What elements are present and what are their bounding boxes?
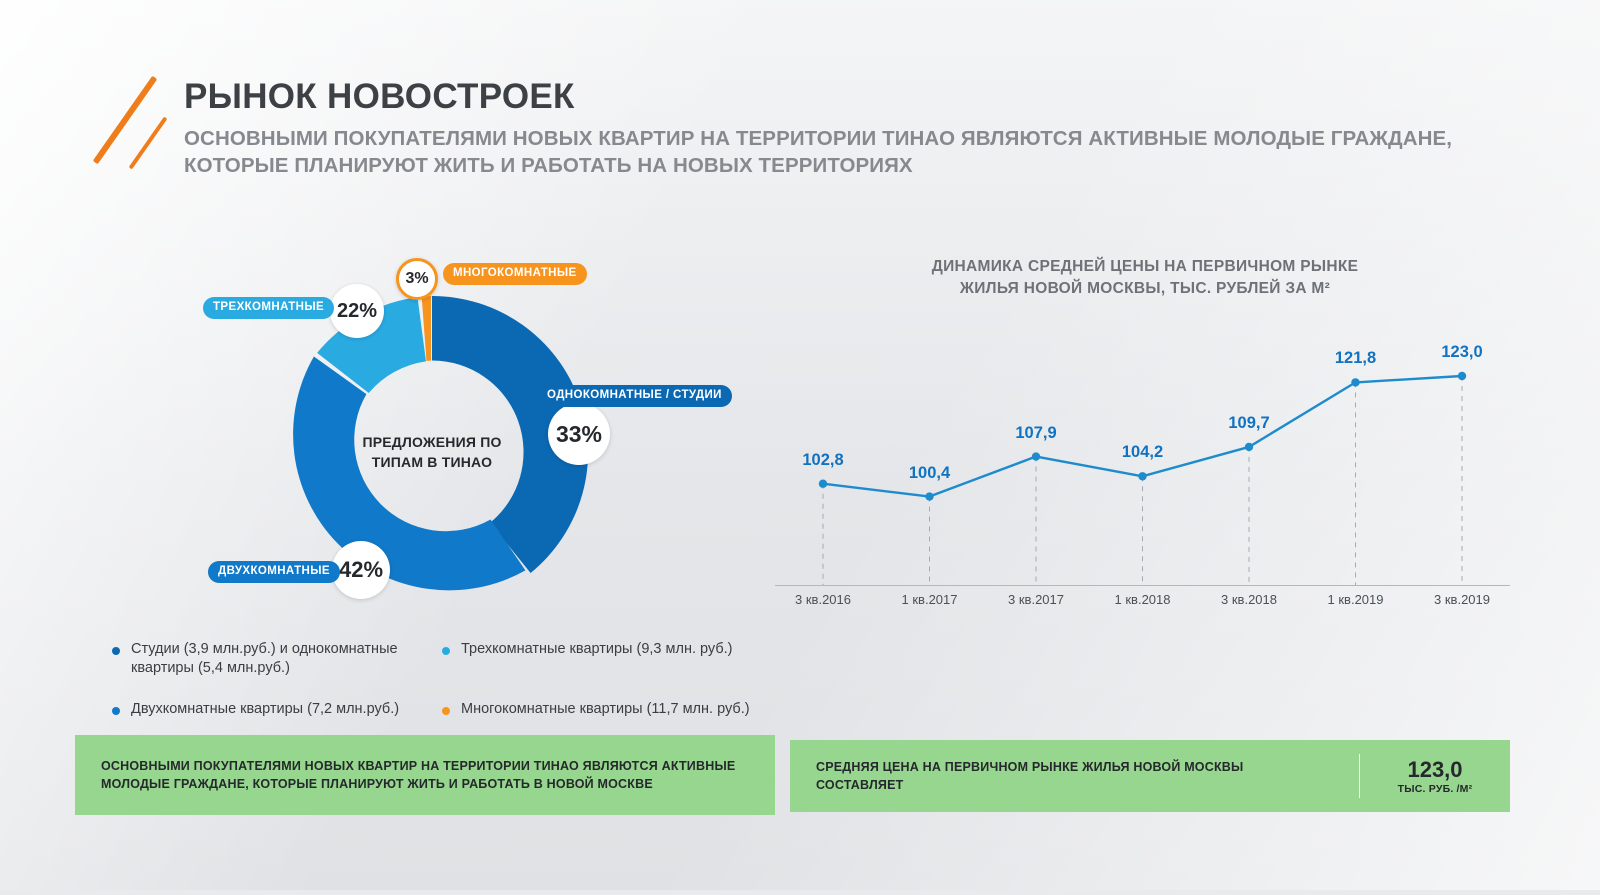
line-chart-axis [775, 585, 1510, 586]
legend-label: Многокомнатные квартиры (11,7 млн. руб.) [461, 700, 750, 719]
line-chart-x-label: 3 кв.2019 [1434, 592, 1490, 607]
callout-price-unit: ТЫС. РУБ. /М² [1360, 783, 1510, 795]
legend-item: Трехкомнатные квартиры (9,3 млн. руб.) [442, 640, 772, 678]
donut-slice-two-room[interactable] [293, 357, 525, 591]
line-chart-value-label: 121,8 [1335, 349, 1376, 368]
donut-legend: Студии (3,9 млн.руб.) и однокомнатные кв… [112, 640, 772, 741]
line-chart-title: ДИНАМИКА СРЕДНЕЙ ЦЕНЫ НА ПЕРВИЧНОМ РЫНКЕ… [905, 256, 1385, 300]
callout-buyers: ОСНОВНЫМИ ПОКУПАТЕЛЯМИ НОВЫХ КВАРТИР НА … [75, 735, 775, 815]
line-chart-value-label: 104,2 [1122, 443, 1163, 462]
line-chart-value-label: 107,9 [1015, 424, 1056, 443]
donut-label-one-room: ОДНОКОМНАТНЫЕ / СТУДИИ [537, 385, 732, 407]
line-chart-x-label: 1 кв.2019 [1328, 592, 1384, 607]
donut-percent-three-room: 22% [330, 284, 384, 338]
legend-label: Трехкомнатные квартиры (9,3 млн. руб.) [461, 640, 733, 659]
donut-label-three-room: ТРЕХКОМНАТНЫЕ [203, 297, 334, 319]
donut-label-two-room: ДВУХКОМНАТНЫЕ [208, 561, 340, 583]
line-chart-x-labels: 3 кв.20161 кв.20173 кв.20171 кв.20183 кв… [775, 592, 1510, 612]
line-chart-x-label: 3 кв.2018 [1221, 592, 1277, 607]
accent-slash-mark [84, 72, 184, 168]
line-chart-svg [775, 330, 1510, 595]
line-chart-value-label: 100,4 [909, 464, 950, 483]
line-chart-x-label: 1 кв.2017 [902, 592, 958, 607]
line-chart-x-label: 3 кв.2016 [795, 592, 851, 607]
legend-item: Многокомнатные квартиры (11,7 млн. руб.) [442, 700, 772, 719]
legend-label: Двухкомнатные квартиры (7,2 млн.руб.) [131, 700, 399, 719]
legend-item: Студии (3,9 млн.руб.) и однокомнатные кв… [112, 640, 442, 678]
callout-price-value: 123,0 [1360, 757, 1510, 783]
legend-item: Двухкомнатные квартиры (7,2 млн.руб.) [112, 700, 442, 719]
legend-dot-icon [112, 707, 120, 715]
line-chart-x-label: 3 кв.2017 [1008, 592, 1064, 607]
callout-average-price-figure: 123,0 ТЫС. РУБ. /М² [1360, 757, 1510, 795]
donut-percent-multi-room: 3% [396, 258, 438, 300]
line-chart-value-label: 109,7 [1228, 414, 1269, 433]
legend-label: Студии (3,9 млн.руб.) и однокомнатные кв… [131, 640, 442, 678]
line-chart-value-label: 102,8 [802, 451, 843, 470]
callout-average-price: СРЕДНЯЯ ЦЕНА НА ПЕРВИЧНОМ РЫНКЕ ЖИЛЬЯ НО… [790, 740, 1510, 812]
donut-percent-two-room: 42% [332, 541, 390, 599]
donut-percent-one-room: 33% [548, 403, 610, 465]
slash-short-icon [129, 116, 168, 169]
page-subtitle: ОСНОВНЫМИ ПОКУПАТЕЛЯМИ НОВЫХ КВАРТИР НА … [184, 125, 1524, 179]
legend-dot-icon [442, 647, 450, 655]
callout-average-price-text: СРЕДНЯЯ ЦЕНА НА ПЕРВИЧНОМ РЫНКЕ ЖИЛЬЯ НО… [790, 758, 1359, 794]
legend-dot-icon [112, 647, 120, 655]
slash-long-icon [93, 76, 158, 165]
line-chart [775, 330, 1510, 595]
line-chart-value-label: 123,0 [1441, 343, 1482, 362]
line-chart-x-label: 1 кв.2018 [1115, 592, 1171, 607]
callout-divider [1359, 754, 1360, 798]
callout-buyers-text: ОСНОВНЫМИ ПОКУПАТЕЛЯМИ НОВЫХ КВАРТИР НА … [75, 757, 775, 793]
donut-center-label: ПРЕДЛОЖЕНИЯ ПО ТИПАМ В ТИНАО [357, 432, 507, 472]
legend-dot-icon [442, 707, 450, 715]
page-title: РЫНОК НОВОСТРОЕК [184, 77, 575, 117]
donut-label-multi-room: МНОГОКОМНАТНЫЕ [443, 263, 587, 285]
